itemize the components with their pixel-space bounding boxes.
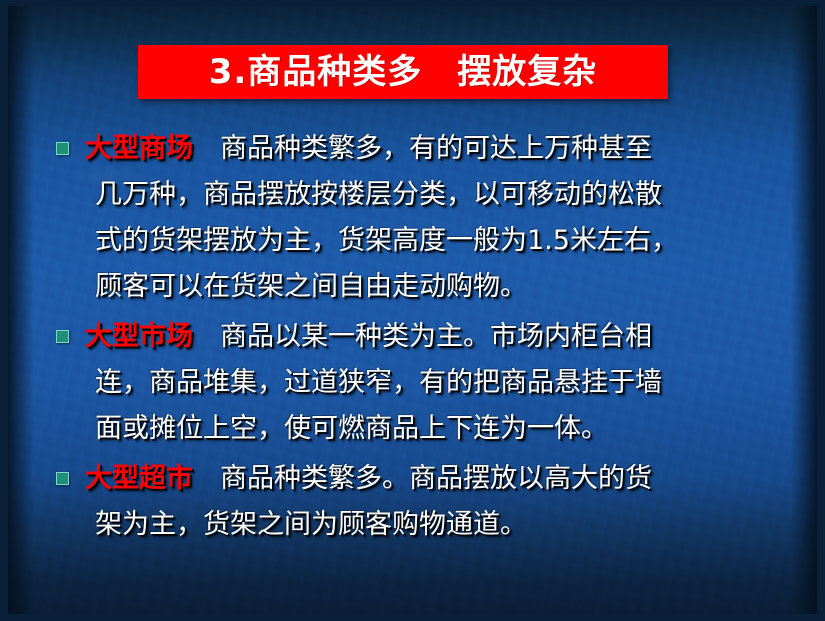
square-bullet-icon (56, 472, 69, 485)
slide-title: 3.商品种类多 摆放复杂 (209, 55, 598, 89)
bullet-item-1-line-2: 几万种，商品摆放按楼层分类，以可移动的松散 (95, 172, 792, 218)
bullet-item-1-lead: 大型商场 (85, 133, 193, 164)
bullet-item-3: 大型超市 商品种类繁多。商品摆放以高大的货 架为主，货架之间为顾客购物通道。 (52, 456, 792, 548)
bullet-item-1-text: 大型商场 商品种类繁多，有的可达上万种甚至 几万种，商品摆放按楼层分类，以可移动… (85, 126, 792, 310)
bullet-item-2-lead-gap (193, 321, 220, 352)
slide-body: 大型商场 商品种类繁多，有的可达上万种甚至 几万种，商品摆放按楼层分类，以可移动… (52, 126, 792, 552)
title-banner: 3.商品种类多 摆放复杂 (138, 45, 668, 99)
bullet-item-2-lead: 大型市场 (85, 321, 193, 352)
bullet-item-1-line-1: 大型商场 商品种类繁多，有的可达上万种甚至 (85, 126, 792, 172)
square-bullet-icon (56, 330, 69, 343)
square-bullet-icon (56, 142, 69, 155)
bullet-item-2-line-3: 面或摊位上空，使可燃商品上下连为一体。 (95, 406, 792, 452)
bullet-item-2-text: 大型市场 商品以某一种类为主。市场内柜台相 连，商品堆集，过道狭窄，有的把商品悬… (85, 314, 792, 452)
bullet-item-1-line-1-rest: 商品种类繁多，有的可达上万种甚至 (220, 133, 652, 164)
presentation-slide: 3.商品种类多 摆放复杂 大型商场 商品种类繁多，有的可达上万种甚至 几万种，商… (0, 0, 825, 621)
bullet-item-3-lead-gap (193, 463, 220, 494)
bullet-item-1-lead-gap (193, 133, 220, 164)
bullet-item-3-line-1-rest: 商品种类繁多。商品摆放以高大的货 (220, 463, 652, 494)
bullet-item-2-line-1: 大型市场 商品以某一种类为主。市场内柜台相 (85, 314, 792, 360)
bullet-item-2: 大型市场 商品以某一种类为主。市场内柜台相 连，商品堆集，过道狭窄，有的把商品悬… (52, 314, 792, 452)
bullet-item-3-line-2: 架为主，货架之间为顾客购物通道。 (95, 502, 792, 548)
bullet-item-1-line-3: 式的货架摆放为主，货架高度一般为1.5米左右， (95, 218, 792, 264)
bullet-item-2-line-2: 连，商品堆集，过道狭窄，有的把商品悬挂于墙 (95, 360, 792, 406)
bullet-item-3-lead: 大型超市 (85, 463, 193, 494)
bullet-item-2-line-1-rest: 商品以某一种类为主。市场内柜台相 (220, 321, 652, 352)
bullet-item-3-text: 大型超市 商品种类繁多。商品摆放以高大的货 架为主，货架之间为顾客购物通道。 (85, 456, 792, 548)
bullet-item-1: 大型商场 商品种类繁多，有的可达上万种甚至 几万种，商品摆放按楼层分类，以可移动… (52, 126, 792, 310)
bullet-item-1-line-4: 顾客可以在货架之间自由走动购物。 (95, 264, 792, 310)
bullet-item-3-line-1: 大型超市 商品种类繁多。商品摆放以高大的货 (85, 456, 792, 502)
